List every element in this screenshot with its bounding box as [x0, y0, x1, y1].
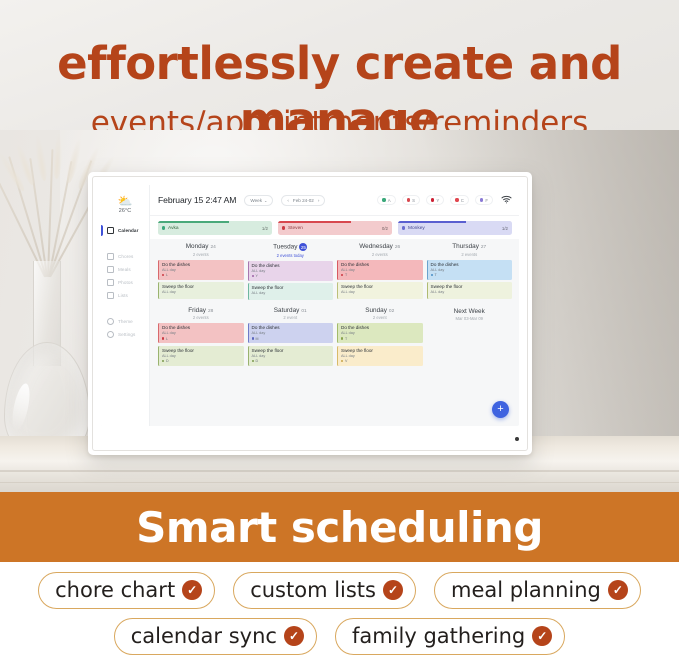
date-range-label: Feb 24-02 [293, 198, 314, 203]
feature-pill-custom-lists[interactable]: custom lists ✓ [233, 572, 416, 609]
assignee-initial: Y [255, 274, 257, 278]
day-name: Thursday [452, 243, 479, 250]
add-event-button[interactable]: + [492, 401, 509, 418]
day-number: 02 [389, 309, 394, 314]
event-assignee: Y [252, 274, 331, 278]
day-number: 27 [481, 245, 486, 250]
day-name: Tuesday [273, 243, 297, 250]
day-header[interactable]: Wednesday26 2 events [337, 239, 423, 260]
sidebar-item-label: Chores [118, 254, 133, 259]
week-row: Friday28 2 events Do the dishes ALL day … [158, 303, 512, 369]
topbar: February 15 2:47 AM Week ⌄ ‹ Feb 24-02 › [150, 185, 519, 216]
sidebar-item-label: Lists [118, 293, 128, 298]
day-number: 24 [210, 245, 215, 250]
member-color-dot [480, 198, 483, 201]
assignee-initial: T [434, 273, 436, 277]
day-column: Saturday01 2 event Do the dishes ALL day… [248, 303, 334, 369]
camera-dot-icon [515, 437, 519, 441]
member-progress-bar [278, 221, 351, 223]
day-event-count: 2 events [158, 252, 244, 257]
sidebar-item-photos[interactable]: Photos [101, 276, 149, 289]
legend-item[interactable]: A [377, 195, 395, 205]
day-column: Tuesday25 2 events today Do the dishes A… [248, 239, 334, 303]
wifi-icon[interactable] [501, 195, 512, 206]
sidebar-item-chores[interactable]: Chores [101, 250, 149, 263]
legend-item[interactable]: Y [426, 195, 444, 205]
event-time: ALL day [341, 354, 420, 359]
banner-title: Smart scheduling [136, 503, 543, 552]
feature-pill-label: family gathering [352, 623, 525, 649]
assignee-initial: D [255, 359, 258, 363]
legend-letter: C [461, 198, 464, 203]
legend-item[interactable]: C [450, 195, 469, 205]
feature-pill-row: calendar sync ✓ family gathering ✓ [0, 609, 679, 655]
tablet-device: ⛅ 26°C Calendar Chores Meals [88, 172, 532, 455]
event-time: ALL day [252, 291, 331, 296]
theme-icon [107, 318, 114, 325]
event-time: ALL day [341, 290, 420, 295]
member-chip-row: Avka 1/2 Steven 0/2 [150, 216, 519, 239]
feature-pill-chore-chart[interactable]: chore chart ✓ [38, 572, 215, 609]
day-name: Sunday [365, 307, 387, 314]
member-color-dot [382, 198, 385, 201]
gear-icon [107, 331, 114, 338]
next-week-header[interactable]: Next Week Mar 03-Mar 09 [427, 303, 513, 325]
assignee-color-dot [341, 274, 343, 276]
view-select[interactable]: Week ⌄ [244, 195, 273, 206]
sidebar-item-meals[interactable]: Meals [101, 263, 149, 276]
assignee-initial: M [255, 337, 258, 341]
sidebar-item-theme[interactable]: Theme [101, 315, 149, 328]
view-select-label: Week [250, 198, 262, 203]
sidebar-item-label: Theme [118, 319, 133, 324]
day-event-count: 2 event [248, 315, 334, 320]
member-name-group: Steven [282, 226, 303, 231]
legend-item[interactable]: S [402, 195, 420, 205]
vase-highlight [9, 382, 33, 432]
assignee-initial: D [166, 359, 169, 363]
assignee-initial: T [345, 273, 347, 277]
list-icon [107, 292, 114, 299]
legend-item[interactable]: F [475, 195, 493, 205]
assignee-color-dot [252, 360, 254, 362]
assignee-color-dot [252, 275, 254, 277]
day-number-today-badge: 25 [299, 243, 307, 251]
day-column: Sunday02 2 event Do the dishes ALL day T… [337, 303, 423, 369]
day-name: Wednesday [359, 243, 393, 250]
assignee-color-dot [162, 360, 164, 362]
event-time: ALL day [341, 331, 420, 336]
day-header[interactable]: Thursday27 2 events [427, 239, 513, 260]
member-color-dot [282, 226, 285, 229]
main-area: February 15 2:47 AM Week ⌄ ‹ Feb 24-02 › [150, 185, 519, 426]
day-column: Thursday27 2 events Do the dishes ALL da… [427, 239, 513, 303]
day-number: 26 [395, 245, 400, 250]
next-week-title: Next Week [427, 308, 513, 315]
event-card[interactable]: Do the dishes ALL day T [337, 260, 423, 280]
meal-icon [107, 266, 114, 273]
day-header[interactable]: Saturday01 2 event [248, 303, 334, 324]
event-assignee: M [252, 337, 331, 341]
sidebar-item-label: Photos [118, 280, 133, 285]
check-circle-icon: ✓ [532, 626, 552, 646]
event-card[interactable]: Do the dishes ALL day Y [248, 261, 334, 281]
member-count: 0/2 [382, 226, 388, 231]
sidebar-item-label: Settings [118, 332, 135, 337]
member-color-dot [402, 226, 405, 229]
day-event-count: 2 events [158, 315, 244, 320]
event-time: ALL day [162, 268, 241, 273]
event-assignee: L [162, 337, 241, 341]
feature-pill-meal-planning[interactable]: meal planning ✓ [434, 572, 641, 609]
day-name: Monday [186, 243, 209, 250]
legend-letter: F [485, 198, 488, 203]
day-number: 28 [208, 309, 213, 314]
check-circle-icon: ✓ [608, 580, 628, 600]
next-arrow-icon[interactable]: › [318, 198, 320, 203]
event-time: ALL day [162, 331, 241, 336]
event-time: ALL day [341, 268, 420, 273]
check-circle-icon: ✓ [284, 626, 304, 646]
weather-widget[interactable]: ⛅ 26°C [101, 189, 149, 220]
member-name-group: Avka [162, 226, 179, 231]
event-assignee: T [431, 273, 510, 277]
assignee-color-dot [341, 360, 343, 362]
event-assignee: L [162, 273, 241, 277]
feature-pill-label: calendar sync [131, 623, 277, 649]
member-chip[interactable]: Avka 1/2 [158, 221, 272, 235]
feature-pill-family-gathering[interactable]: family gathering ✓ [335, 618, 565, 655]
week-row: Monday24 2 events Do the dishes ALL day … [158, 239, 512, 303]
sun-cloud-icon: ⛅ [118, 195, 133, 207]
assignee-color-dot [252, 337, 254, 339]
event-card[interactable]: Sweep the floor ALL day D [248, 346, 334, 366]
day-name: Saturday [274, 307, 300, 314]
legend-letter: S [412, 198, 415, 203]
day-event-count: 2 events [337, 252, 423, 257]
page-title: February 15 2:47 AM [158, 195, 236, 205]
event-card[interactable]: Do the dishes ALL day T [427, 260, 513, 280]
event-card[interactable]: Sweep the floor ALL day D [158, 346, 244, 366]
feature-pills-section: chore chart ✓ custom lists ✓ meal planni… [0, 562, 679, 656]
sidebar-nav: Calendar Chores Meals Photos [101, 220, 149, 341]
member-progress-bar [158, 221, 229, 223]
chevron-down-icon: ⌄ [264, 198, 267, 203]
event-time: ALL day [431, 290, 510, 295]
day-name: Friday [188, 307, 206, 314]
event-card[interactable]: Do the dishes ALL day L [158, 323, 244, 343]
event-card[interactable]: Do the dishes ALL day L [158, 260, 244, 280]
check-circle-icon: ✓ [182, 580, 202, 600]
member-color-dot [407, 198, 410, 201]
event-assignee: T [341, 273, 420, 277]
day-header[interactable]: Monday24 2 events [158, 239, 244, 260]
feature-pill-label: custom lists [250, 577, 376, 603]
day-column: Wednesday26 2 events Do the dishes ALL d… [337, 239, 423, 303]
check-circle-icon: ✓ [383, 580, 403, 600]
member-chip[interactable]: Monkey 1/2 [398, 221, 512, 235]
member-color-dot [431, 198, 434, 201]
week-grid: Monday24 2 events Do the dishes ALL day … [150, 239, 519, 426]
member-progress-bar [398, 221, 466, 223]
member-name: Monkey [408, 226, 425, 231]
sidebar-item-calendar[interactable]: Calendar [101, 224, 149, 237]
member-name-group: Monkey [402, 226, 425, 231]
event-time: ALL day [162, 290, 241, 295]
event-card[interactable]: Sweep the floor ALL day [427, 282, 513, 299]
weather-temperature: 26°C [119, 208, 131, 214]
event-card[interactable]: Do the dishes ALL day T [337, 323, 423, 343]
event-card[interactable]: Sweep the floor ALL day [158, 282, 244, 299]
event-time: ALL day [162, 354, 241, 359]
member-color-dot [455, 198, 458, 201]
app-screen: ⛅ 26°C Calendar Chores Meals [101, 185, 519, 426]
member-color-dot [162, 226, 165, 229]
event-card[interactable]: Do the dishes ALL day M [248, 323, 334, 343]
event-assignee: V [341, 359, 420, 363]
day-event-count: 2 events [427, 252, 513, 257]
feature-pill-label: chore chart [55, 577, 175, 603]
day-header[interactable]: Friday28 2 events [158, 303, 244, 324]
day-header[interactable]: Tuesday25 2 events today [248, 239, 334, 261]
assignee-color-dot [431, 274, 433, 276]
day-column: Friday28 2 events Do the dishes ALL day … [158, 303, 244, 369]
assignee-initial: T [345, 337, 347, 341]
sidebar: ⛅ 26°C Calendar Chores Meals [101, 185, 150, 426]
feature-pill-label: meal planning [451, 577, 601, 603]
member-count: 1/2 [502, 226, 508, 231]
day-event-count: 2 event [337, 315, 423, 320]
prev-arrow-icon[interactable]: ‹ [287, 198, 289, 203]
assignee-initial: V [345, 359, 347, 363]
event-time: ALL day [252, 269, 331, 274]
banner-section: Smart scheduling [0, 492, 679, 562]
assignee-color-dot [162, 337, 164, 339]
assignee-color-dot [162, 274, 164, 276]
assignee-initial: L [166, 337, 168, 341]
member-chip[interactable]: Steven 0/2 [278, 221, 392, 235]
event-assignee: D [252, 359, 331, 363]
member-name: Avka [168, 226, 179, 231]
next-week-column[interactable]: Next Week Mar 03-Mar 09 [427, 303, 513, 369]
event-time: ALL day [431, 268, 510, 273]
legend-letter: Y [436, 198, 439, 203]
member-filter-legend: A S Y C [377, 195, 512, 206]
feature-pill-calendar-sync[interactable]: calendar sync ✓ [114, 618, 317, 655]
event-card[interactable]: Sweep the floor ALL day [337, 282, 423, 299]
feature-pill-row: chore chart ✓ custom lists ✓ meal planni… [0, 562, 679, 609]
day-header[interactable]: Sunday02 2 event [337, 303, 423, 324]
legend-letter: A [388, 198, 391, 203]
event-time: ALL day [252, 331, 331, 336]
day-column: Monday24 2 events Do the dishes ALL day … [158, 239, 244, 303]
day-number: 01 [301, 309, 306, 314]
photo-icon [107, 279, 114, 286]
sidebar-item-settings[interactable]: Settings [101, 328, 149, 341]
day-event-count: 2 events today [248, 253, 334, 258]
next-week-range: Mar 03-Mar 09 [427, 316, 513, 321]
assignee-initial: L [166, 273, 168, 277]
sidebar-item-label: Calendar [118, 228, 138, 233]
date-range-select[interactable]: ‹ Feb 24-02 › [281, 195, 325, 206]
broom-icon [107, 253, 114, 260]
event-card[interactable]: Sweep the floor ALL day [248, 283, 334, 300]
event-assignee: T [341, 337, 420, 341]
member-name: Steven [288, 226, 303, 231]
calendar-icon [107, 227, 114, 234]
assignee-color-dot [341, 337, 343, 339]
sidebar-item-lists[interactable]: Lists [101, 289, 149, 302]
sidebar-item-label: Meals [118, 267, 131, 272]
event-assignee: D [162, 359, 241, 363]
event-card[interactable]: Sweep the floor ALL day V [337, 346, 423, 366]
member-count: 1/2 [262, 226, 268, 231]
event-time: ALL day [252, 354, 331, 359]
promo-image: effortlessly create and manage events/ap… [0, 0, 679, 656]
